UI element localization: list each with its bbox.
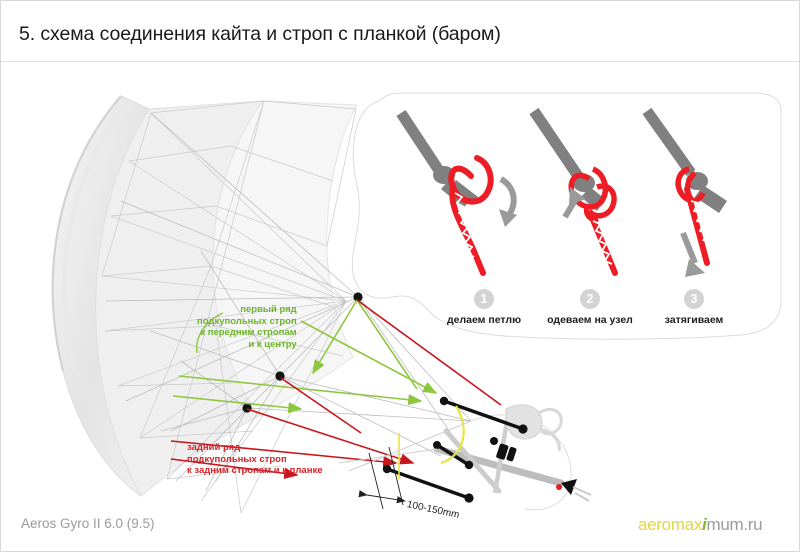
footer-model-name: Aeros Gyro II 6.0 (9.5)	[21, 516, 155, 531]
step-badge-2: 2	[580, 289, 600, 309]
kite-diagram	[1, 1, 800, 552]
logo-part-b: mum.ru	[706, 515, 762, 534]
knot-step-2	[534, 111, 615, 273]
annotation-rear-line-1: задний ряд	[187, 442, 323, 454]
step-badge-3: 3	[684, 289, 704, 309]
annotation-rear-line-3: к задним стропам и к планке	[187, 465, 323, 477]
logo-part-a: aeromax	[638, 515, 702, 534]
annotation-front-line-3: к передним стропам	[197, 327, 297, 339]
annotation-front-line-2: подкупольных строп	[197, 316, 297, 328]
step-badge-1: 1	[474, 289, 494, 309]
annotation-front-line-1: первый ряд	[197, 304, 297, 316]
annotation-front-line-4: и к центру	[197, 339, 297, 351]
step-caption-1: делаем петлю	[438, 314, 530, 326]
knot-step-3	[647, 111, 727, 277]
annotation-rear-line-2: подкупольных строп	[187, 454, 323, 466]
slide-canvas: 5. схема соединения кайта и строп с план…	[0, 0, 800, 552]
brand-logo[interactable]: aeromaximum.ru	[638, 515, 762, 535]
kite-canopy	[53, 96, 357, 496]
control-bar-assembly	[339, 397, 591, 510]
annotation-rear-rows: задний ряд подкупольных строп к задним с…	[187, 442, 323, 477]
step-caption-2: одеваем на узел	[541, 314, 639, 326]
step-caption-3: затягиваем	[649, 314, 739, 326]
knot-step-1	[401, 113, 517, 273]
annotation-front-rows: первый ряд подкупольных строп к передним…	[197, 304, 297, 350]
